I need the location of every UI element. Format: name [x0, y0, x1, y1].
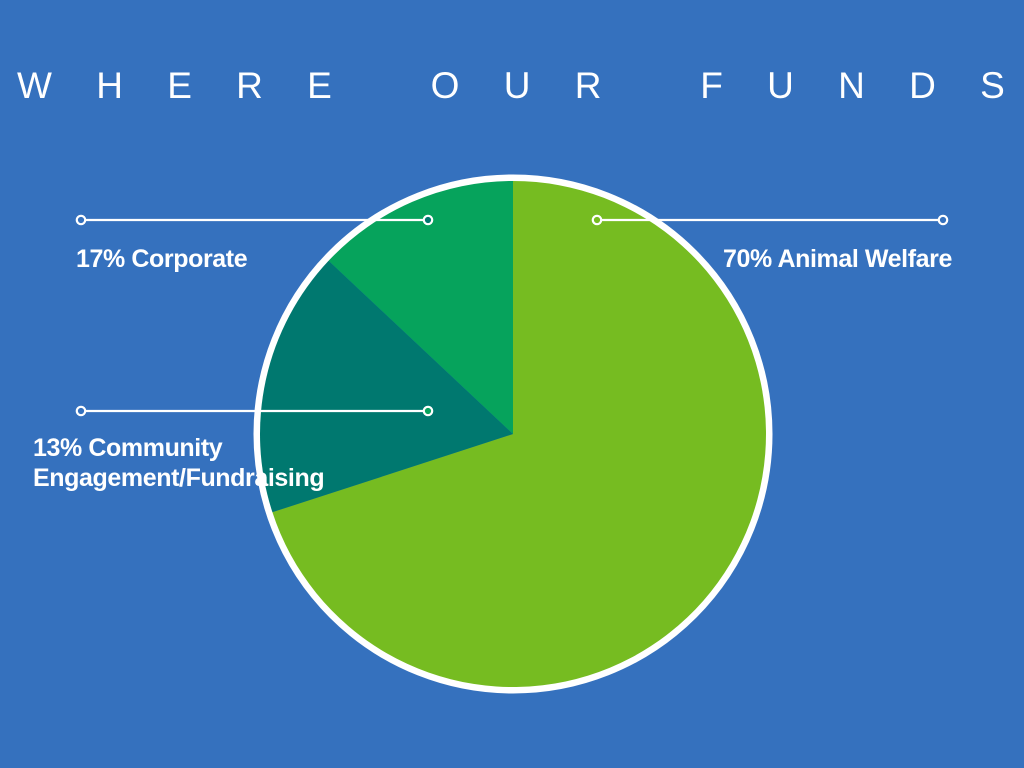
leader-dot-community-inner — [424, 407, 432, 415]
leader-dot-community-outer — [77, 407, 85, 415]
leader-dot-animal-welfare-outer — [939, 216, 947, 224]
leader-dot-corporate-outer — [77, 216, 85, 224]
slice-label-corporate: 17% Corporate — [76, 244, 247, 274]
slice-label-community: 13% Community Engagement/Fundraising — [33, 433, 324, 493]
leader-dot-corporate-inner — [424, 216, 432, 224]
leader-dot-animal-welfare-inner — [593, 216, 601, 224]
infographic-canvas: W H E R E O U R F U N D S G O — [0, 0, 1024, 768]
pie-chart — [0, 0, 1024, 768]
slice-label-animal-welfare: 70% Animal Welfare — [524, 244, 952, 274]
